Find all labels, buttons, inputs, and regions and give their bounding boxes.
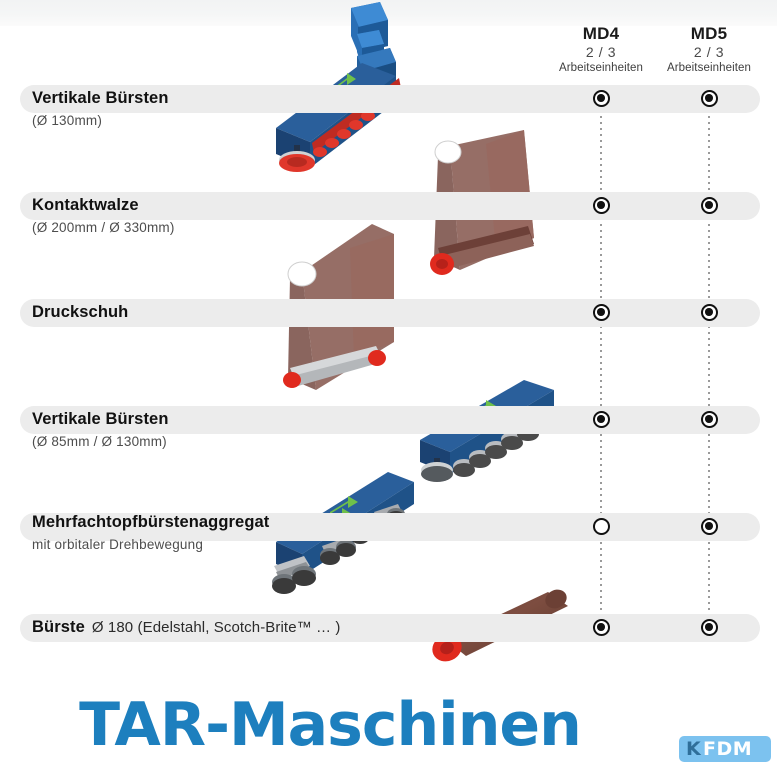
row-subtitle-vertikale-bursten-2: (Ø 85mm / Ø 130mm) bbox=[32, 434, 167, 449]
row-title-burste: BürsteØ 180 (Edelstahl, Scotch-Brite™ … … bbox=[32, 618, 340, 637]
fdm-watermark-badge: K FDM bbox=[679, 736, 771, 762]
column-count: 2 / 3 bbox=[541, 44, 661, 61]
row-title-druckschuh: Druckschuh bbox=[32, 303, 128, 322]
brand-title: TAR-Maschinen bbox=[0, 690, 660, 760]
fdm-label: FDM bbox=[703, 739, 752, 759]
marker-row1-md4[interactable] bbox=[593, 90, 610, 107]
marker-row4-md4[interactable] bbox=[593, 411, 610, 428]
marker-row3-md4[interactable] bbox=[593, 304, 610, 321]
row-band bbox=[20, 299, 760, 327]
marker-row1-md5[interactable] bbox=[701, 90, 718, 107]
row-title-kontaktwalze: Kontaktwalze bbox=[32, 196, 139, 215]
row-title-burste-bold: Bürste bbox=[32, 618, 85, 636]
row-subtitle-vertikale-bursten-1: (Ø 130mm) bbox=[32, 113, 102, 128]
column-name: MD4 bbox=[541, 24, 661, 44]
marker-row3-md5[interactable] bbox=[701, 304, 718, 321]
row-title-burste-detail: Ø 180 (Edelstahl, Scotch-Brite™ … ) bbox=[92, 619, 341, 636]
marker-row6-md4[interactable] bbox=[593, 619, 610, 636]
row-subtitle-kontaktwalze: (Ø 200mm / Ø 330mm) bbox=[32, 220, 175, 235]
column-guide-md4 bbox=[600, 86, 602, 642]
column-unit: Arbeitseinheiten bbox=[541, 61, 661, 75]
marker-row6-md5[interactable] bbox=[701, 619, 718, 636]
row-subtitle-mehrfachtopfburstenaggregat: mit orbitaler Drehbewegung bbox=[32, 537, 203, 552]
marker-row2-md5[interactable] bbox=[701, 197, 718, 214]
marker-row2-md4[interactable] bbox=[593, 197, 610, 214]
column-count: 2 / 3 bbox=[649, 44, 769, 61]
column-header-md5: MD5 2 / 3 Arbeitseinheiten bbox=[649, 24, 769, 75]
row-title-vertikale-bursten-2: Vertikale Bürsten bbox=[32, 410, 169, 429]
column-guide-md5 bbox=[708, 86, 710, 642]
marker-row5-md4[interactable] bbox=[593, 518, 610, 535]
column-unit: Arbeitseinheiten bbox=[649, 61, 769, 75]
row-title-vertikale-bursten-1: Vertikale Bürsten bbox=[32, 89, 169, 108]
marker-row5-md5[interactable] bbox=[701, 518, 718, 535]
row-title-mehrfachtopfburstenaggregat: Mehrfachtopfbürstenaggregat bbox=[32, 513, 269, 532]
marker-row4-md5[interactable] bbox=[701, 411, 718, 428]
product-configuration-chart: MD4 2 / 3 Arbeitseinheiten MD5 2 / 3 Arb… bbox=[0, 0, 777, 768]
column-header-md4: MD4 2 / 3 Arbeitseinheiten bbox=[541, 24, 661, 75]
fdm-k-glyph: K bbox=[686, 739, 701, 759]
column-name: MD5 bbox=[649, 24, 769, 44]
